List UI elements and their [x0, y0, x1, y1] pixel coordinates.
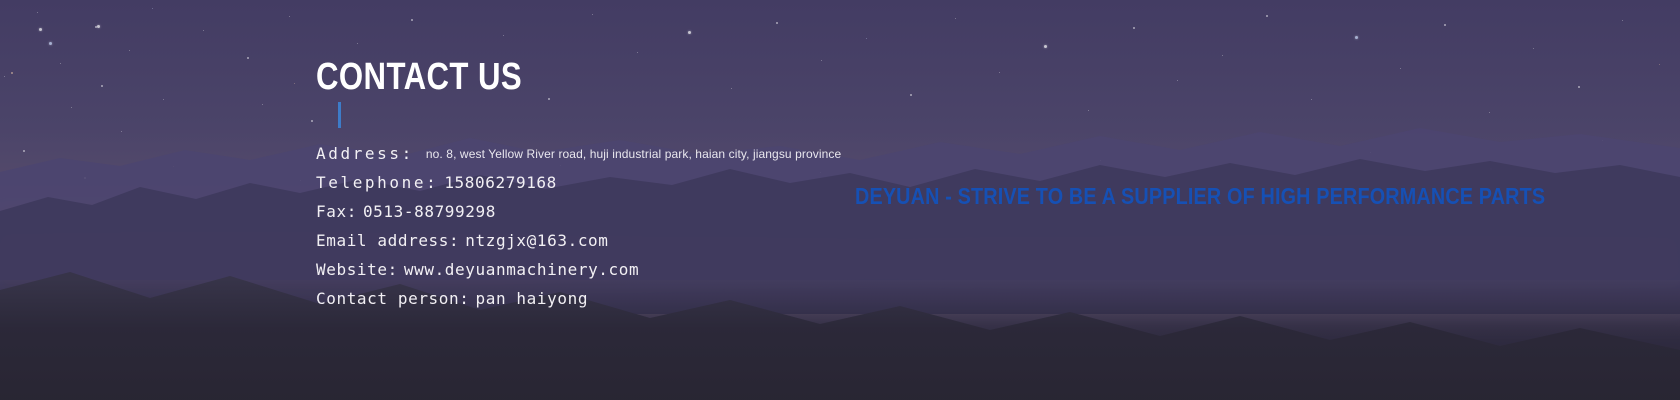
- contact-info-block: CONTACT US Address: no. 8, west Yellow R…: [316, 56, 1016, 98]
- page-title: CONTACT US: [316, 56, 890, 98]
- contact-row-email: Email address: ntzgjx@163.com: [316, 231, 841, 260]
- contact-row-address: Address: no. 8, west Yellow River road, …: [316, 144, 841, 173]
- telephone-value[interactable]: 15806279168: [444, 173, 557, 192]
- contact-row-telephone: Telephone: 15806279168: [316, 173, 841, 202]
- email-label: Email address:: [316, 231, 459, 250]
- contact-details-list: Address: no. 8, west Yellow River road, …: [316, 144, 841, 318]
- contact-row-fax: Fax: 0513-88799298: [316, 202, 841, 231]
- fax-label: Fax:: [316, 202, 357, 221]
- accent-bar: [338, 102, 341, 128]
- website-value[interactable]: www.deyuanmachinery.com: [404, 260, 639, 279]
- fax-value: 0513-88799298: [363, 202, 496, 221]
- contact-person-value: pan haiyong: [476, 289, 589, 308]
- contact-row-person: Contact person: pan haiyong: [316, 289, 841, 318]
- contact-person-label: Contact person:: [316, 289, 470, 308]
- contact-row-website: Website: www.deyuanmachinery.com: [316, 260, 841, 289]
- address-value: no. 8, west Yellow River road, huji indu…: [426, 147, 841, 161]
- company-slogan: DEYUAN - STRIVE TO BE A SUPPLIER OF HIGH…: [855, 183, 1545, 209]
- address-label: Address:: [316, 144, 414, 163]
- email-value[interactable]: ntzgjx@163.com: [465, 231, 608, 250]
- contact-footer-banner: CONTACT US Address: no. 8, west Yellow R…: [0, 0, 1680, 400]
- telephone-label: Telephone:: [316, 173, 438, 192]
- website-label: Website:: [316, 260, 398, 279]
